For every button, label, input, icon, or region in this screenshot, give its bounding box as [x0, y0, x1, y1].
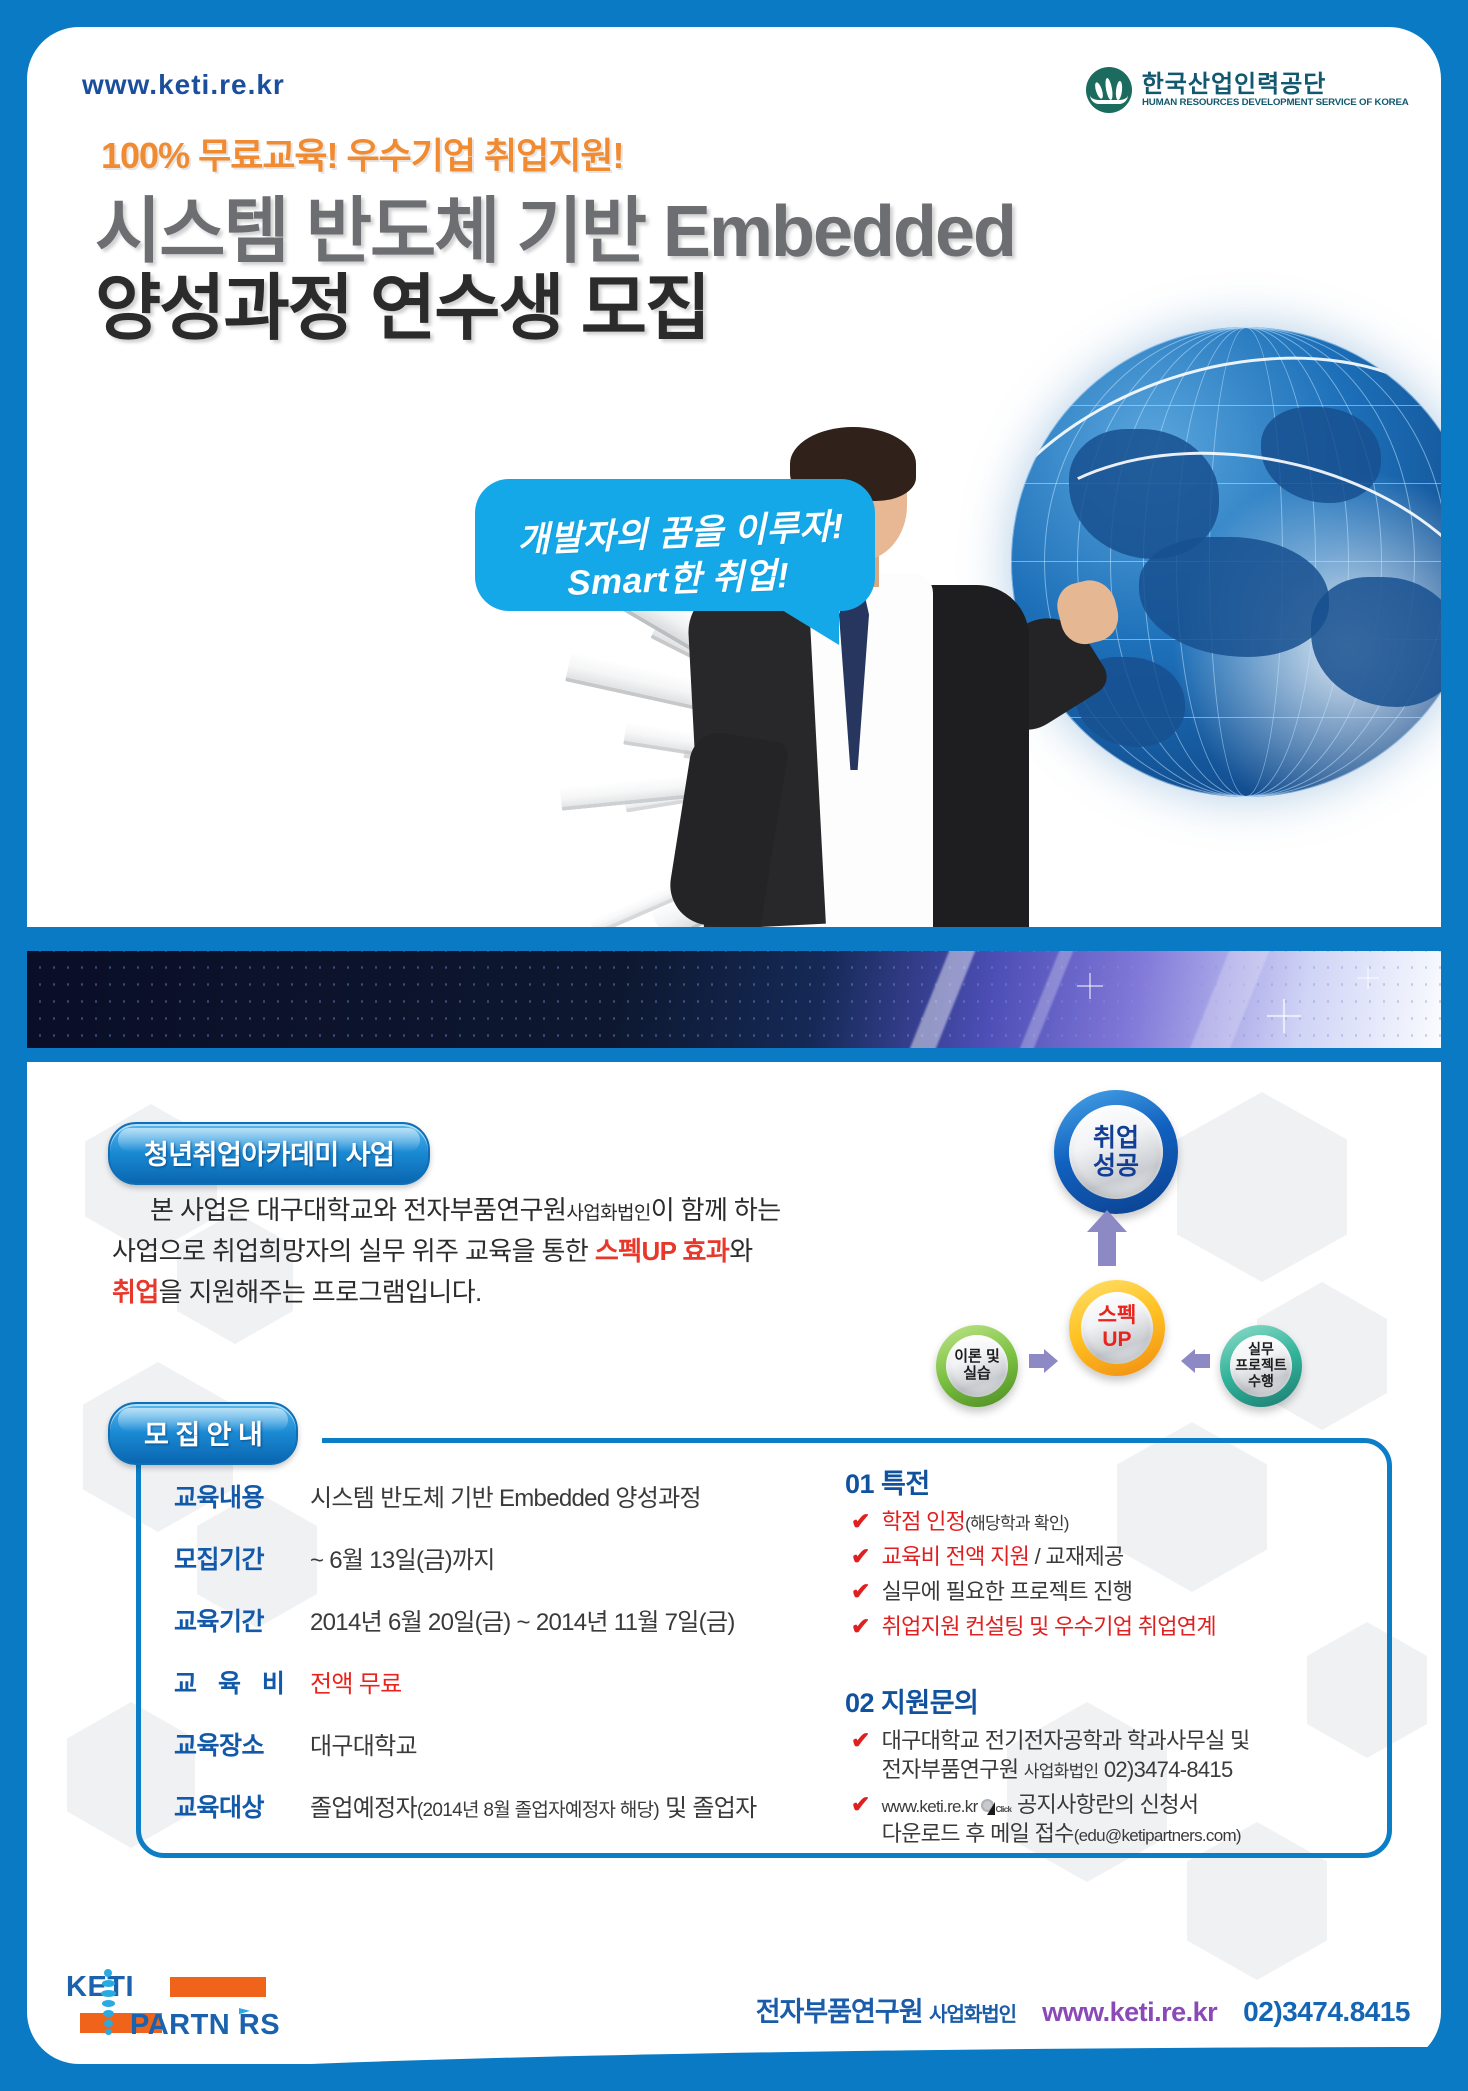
- contact-website-url[interactable]: www.keti.re.kr: [882, 1797, 978, 1816]
- node-success-line2: 성공: [1093, 1152, 1139, 1180]
- benefit-item-text: 실무에 필요한 프로젝트 진행: [882, 1577, 1133, 1606]
- node-spec-line2: UP: [1098, 1328, 1137, 1352]
- node-spec-line1: 스펙: [1098, 1304, 1137, 1328]
- section-heading-program: 청년취업아카데미 사업: [108, 1122, 430, 1185]
- footer-website[interactable]: www.keti.re.kr: [1042, 1997, 1217, 2028]
- recruitment-row-value: 시스템 반도체 기반 Embedded 양성과정: [310, 1478, 701, 1513]
- node-theory-line2: 실습: [954, 1366, 1000, 1383]
- node-project-line3: 수행: [1235, 1374, 1287, 1390]
- footer-phone: 02)3474.8415: [1243, 1996, 1410, 2028]
- node-project-line2: 프로젝트: [1235, 1358, 1287, 1374]
- benefit-item: ✔학점 인정(해당학과 확인): [851, 1507, 1365, 1537]
- speech-bubble-line2: Smart한 취업!: [566, 547, 790, 606]
- benefit-item: ✔실무에 필요한 프로젝트 진행: [851, 1577, 1365, 1607]
- arrow-left-icon-right: [1194, 1354, 1210, 1368]
- program-intro-text: 본 사업은 대구대학교와 전자부품연구원사업화법인이 함께 하는 사업으로 취업…: [112, 1190, 872, 1313]
- check-icon: ✔: [851, 1507, 870, 1537]
- contact-item-office: ✔ 대구대학교 전기전자공학과 학과사무실 및 전자부품연구원 사업화법인 02…: [851, 1726, 1365, 1785]
- recruitment-row-value: 졸업예정자(2014년 8월 졸업자예정자 해당) 및 졸업자: [310, 1788, 757, 1823]
- check-icon: ✔: [851, 1790, 870, 1820]
- recruitment-row: 교 육 비전액 무료: [174, 1664, 794, 1700]
- hrd-korea-name-en: HUMAN RESOURCES DEVELOPMENT SERVICE OF K…: [1142, 97, 1409, 108]
- recruitment-row-label: 모집기간: [174, 1540, 310, 1576]
- recruitment-row-value: ~ 6월 13일(금)까지: [310, 1540, 495, 1575]
- recruitment-row-label: 교육기간: [174, 1602, 310, 1638]
- node-theory-line1: 이론 및: [954, 1349, 1000, 1366]
- contact-item-website[interactable]: ✔ www.keti.re.krClick 공지사항란의 신청서 다운로드 후 …: [851, 1790, 1365, 1849]
- footer-contact: 전자부품연구원 사업화법인 www.keti.re.kr 02)3474.841…: [756, 1990, 1410, 2029]
- recruitment-row: 교육장소대구대학교: [174, 1726, 794, 1762]
- contact-office-phone: 02)3474-8415: [1098, 1757, 1232, 1782]
- diagram-node-theory: 이론 및 실습: [936, 1325, 1018, 1407]
- recruitment-row-label: 교육대상: [174, 1788, 310, 1824]
- check-icon: ✔: [851, 1542, 870, 1572]
- section-heading-recruitment: 모 집 안 내: [108, 1402, 298, 1465]
- recruitment-row: 교육대상졸업예정자(2014년 8월 졸업자예정자 해당) 및 졸업자: [174, 1788, 794, 1824]
- recruitment-row: 모집기간~ 6월 13일(금)까지: [174, 1540, 794, 1576]
- check-icon: ✔: [851, 1726, 870, 1756]
- contact-website-line1: 공지사항란의 신청서: [1017, 1792, 1198, 1817]
- contact-office-line2-small: 사업화법인: [1024, 1762, 1099, 1781]
- benefits-heading: 01 특전: [845, 1462, 1365, 1501]
- diagram-node-success: 취업 성공: [1054, 1090, 1178, 1214]
- hrd-korea-name-ko: 한국산업인력공단: [1142, 72, 1403, 97]
- benefit-item: ✔교육비 전액 지원 / 교재제공: [851, 1542, 1365, 1572]
- recruitment-row-label: 교육내용: [174, 1478, 310, 1514]
- recruitment-row: 교육내용시스템 반도체 기반 Embedded 양성과정: [174, 1478, 794, 1514]
- benefit-item-text: 학점 인정(해당학과 확인): [882, 1507, 1069, 1536]
- poster-footer: KETI PARTN RS 전자부품연구원 사업화법인 www.keti.re.…: [0, 1941, 1468, 2091]
- benefit-item-text: 취업지원 컨설팅 및 우수기업 취업연계: [882, 1612, 1216, 1641]
- recruitment-row: 교육기간2014년 6월 20일(금) ~ 2014년 11월 7일(금): [174, 1602, 794, 1638]
- node-success-line1: 취업: [1093, 1124, 1139, 1152]
- arrow-right-icon-left: [1029, 1354, 1045, 1368]
- check-icon: ✔: [851, 1612, 870, 1642]
- diagram-node-specup: 스펙 UP: [1069, 1280, 1165, 1376]
- recruitment-row-value: 전액 무료: [310, 1664, 402, 1699]
- contact-office-line2a: 전자부품연구원: [882, 1757, 1024, 1782]
- keti-logo-text: KETI: [66, 1971, 134, 2004]
- intro-line1-tail: 이 함께 하는: [651, 1195, 781, 1225]
- diagram-node-project: 실무 프로젝트 수행: [1220, 1325, 1302, 1407]
- intro-highlight-specup: 스펙UP 효과: [595, 1236, 729, 1266]
- hrd-korea-mark-icon: [1086, 67, 1132, 113]
- footer-wave-decoration: [0, 2047, 1468, 2091]
- recruitment-row-label: 교 육 비: [174, 1664, 310, 1700]
- poster-frame: www.keti.re.kr 한국산업인력공단 HUMAN RESOURCES …: [0, 0, 1468, 2091]
- hrd-korea-logo: 한국산업인력공단 HUMAN RESOURCES DEVELOPMENT SER…: [1086, 67, 1403, 113]
- hero-title-line2: 양성과정 연수생 모집: [95, 249, 709, 354]
- city-lights-band: [27, 951, 1441, 1048]
- intro-line1: 본 사업은 대구대학교와 전자부품연구원: [112, 1190, 566, 1231]
- recruitment-row-label: 교육장소: [174, 1726, 310, 1762]
- intro-highlight-employment: 취업: [112, 1277, 159, 1307]
- benefit-item-text: 교육비 전액 지원 / 교재제공: [882, 1542, 1124, 1571]
- contact-website-line2: 다운로드 후 메일 접수: [882, 1821, 1074, 1846]
- website-url-top: www.keti.re.kr: [82, 69, 285, 101]
- intro-line3: 을 지원해주는 프로그램입니다.: [159, 1277, 482, 1307]
- footer-org: 전자부품연구원 사업화법인: [756, 1990, 1016, 2029]
- contact-office-line1: 대구대학교 전기전자공학과 학과사무실 및: [882, 1728, 1250, 1753]
- intro-line2a: 사업으로 취업희망자의 실무 위주 교육을 통한: [112, 1236, 595, 1266]
- intro-line1-small: 사업화법인: [566, 1203, 650, 1224]
- contact-heading: 02 지원문의: [845, 1681, 1365, 1720]
- mouse-click-icon: Click: [981, 1798, 1009, 1815]
- recruitment-row-value: 2014년 6월 20일(금) ~ 2014년 11월 7일(금): [310, 1602, 735, 1637]
- contact-list: ✔ 대구대학교 전기전자공학과 학과사무실 및 전자부품연구원 사업화법인 02…: [851, 1726, 1365, 1849]
- arrow-up-icon: [1098, 1230, 1116, 1266]
- hero-panel: www.keti.re.kr 한국산업인력공단 HUMAN RESOURCES …: [27, 27, 1441, 927]
- specup-flow-diagram: 취업 성공 스펙 UP 이론 및 실습: [930, 1090, 1350, 1410]
- recruitment-side-column: 01 특전 ✔학점 인정(해당학과 확인)✔교육비 전액 지원 / 교재제공✔실…: [845, 1462, 1365, 1853]
- intro-line2b: 와: [729, 1236, 752, 1266]
- speech-bubble: 개발자의 꿈을 이루자! Smart한 취업!: [475, 479, 875, 611]
- contact-email[interactable]: (edu@ketipartners.com): [1074, 1826, 1241, 1845]
- benefits-list: ✔학점 인정(해당학과 확인)✔교육비 전액 지원 / 교재제공✔실무에 필요한…: [851, 1507, 1365, 1642]
- node-project-line1: 실무: [1235, 1342, 1287, 1358]
- benefit-item: ✔취업지원 컨설팅 및 우수기업 취업연계: [851, 1612, 1365, 1642]
- recruitment-detail-rows: 교육내용시스템 반도체 기반 Embedded 양성과정모집기간~ 6월 13일…: [174, 1478, 794, 1850]
- keti-logo-dots-icon: [102, 1969, 120, 2035]
- keti-partners-logo: KETI PARTN RS: [66, 1969, 284, 2039]
- check-icon: ✔: [851, 1577, 870, 1607]
- recruitment-row-value: 대구대학교: [310, 1726, 417, 1761]
- partners-logo-text: PARTN RS: [130, 2009, 280, 2042]
